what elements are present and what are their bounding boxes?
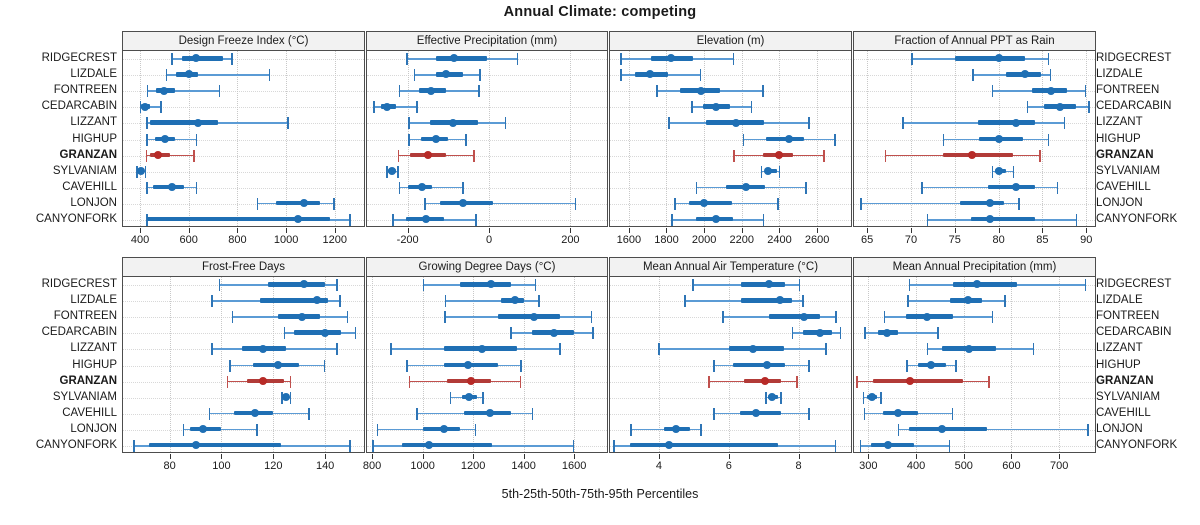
median-marker: [732, 119, 740, 127]
whisker-cap-p5: [211, 295, 213, 307]
whisker-cap-p5: [399, 182, 401, 194]
x-tick: [170, 454, 171, 459]
site-label-canyonfork: CANYONFORK: [1096, 212, 1177, 226]
median-marker: [424, 151, 432, 159]
panel-title: Elevation (m): [697, 35, 765, 47]
whisker-cap-p95: [475, 424, 477, 436]
whisker-cap-p95: [520, 376, 522, 388]
row-labels-right-bottom: RIDGECRESTLIZDALEFONTREENCEDARCABINLIZZA…: [1096, 276, 1200, 453]
interquartile-bar: [147, 217, 330, 222]
site-label-cedarcabin: CEDARCABIN: [42, 325, 117, 339]
plot-area: [854, 277, 1095, 452]
interval-canyonfork: [123, 213, 364, 226]
interval-ridgecrest: [367, 278, 607, 292]
whisker-cap-p95: [479, 69, 481, 81]
site-label-granzan: GRANZAN: [1096, 148, 1154, 162]
interquartile-bar: [689, 201, 732, 206]
site-label-sylvaniam: SYLVANIAM: [1096, 164, 1160, 178]
whisker-cap-p95: [808, 408, 810, 420]
x-tick-label: 400: [907, 460, 925, 472]
whisker-cap-p95: [196, 134, 198, 146]
whisker-cap-p5: [671, 214, 673, 226]
interval-granzan: [854, 149, 1095, 163]
whisker-cap-p95: [517, 53, 519, 65]
panel-title-strip: Design Freeze Index (°C): [123, 32, 364, 51]
whisker-cap-p5: [943, 134, 945, 146]
x-tick-label: 70: [905, 234, 917, 246]
x-axis-fraction-annual-ppt-as-rain: 657075808590: [854, 228, 1095, 252]
whisker-cap-p95: [520, 360, 522, 372]
site-label-cavehill: CAVEHILL: [1096, 406, 1151, 420]
whisker-cap-p95: [416, 101, 418, 113]
x-tick-label: 85: [1036, 234, 1048, 246]
whisker-cap-p5: [171, 53, 173, 65]
whisker-cap-p5: [743, 134, 745, 146]
whisker-cap-p95: [751, 101, 753, 113]
whisker-cap-p95: [535, 279, 537, 291]
whisker-cap-p5: [398, 150, 400, 162]
whisker-cap-p95: [700, 424, 702, 436]
median-marker: [646, 70, 654, 78]
site-label-cedarcabin: CEDARCABIN: [42, 99, 117, 113]
median-marker: [300, 280, 308, 288]
site-label-lizdale: LIZDALE: [70, 293, 117, 307]
x-tick: [1059, 454, 1060, 459]
interval-granzan: [367, 375, 607, 389]
site-label-highup: HIGHUP: [1096, 132, 1141, 146]
interval-lizdale: [123, 294, 364, 308]
interval-ridgecrest: [123, 278, 364, 292]
x-tick-label: 500: [955, 460, 973, 472]
interval-sylvaniam: [854, 165, 1095, 179]
whisker-cap-p5: [372, 440, 374, 452]
site-label-lonjon: LONJON: [1096, 196, 1143, 210]
interval-lonjon: [854, 197, 1095, 211]
whisker-cap-p5: [792, 327, 794, 339]
whisker-cap-p5: [620, 53, 622, 65]
panel-title: Fraction of Annual PPT as Rain: [894, 35, 1054, 47]
median-marker: [995, 54, 1003, 62]
site-label-cavehill: CAVEHILL: [62, 180, 117, 194]
x-axis-growing-degree-days: 8001000120014001600: [367, 454, 607, 478]
median-marker: [995, 167, 1003, 175]
whisker-cap-p95: [462, 182, 464, 194]
interval-canyonfork: [367, 213, 607, 226]
whisker-cap-p95: [779, 166, 781, 178]
x-tick: [524, 454, 525, 459]
whisker-cap-p95: [1085, 85, 1087, 97]
panel-title-strip: Mean Annual Precipitation (mm): [854, 258, 1095, 277]
interquartile-bar: [150, 120, 218, 125]
x-tick-label: 8: [796, 460, 802, 472]
x-tick: [489, 228, 490, 233]
median-marker: [449, 119, 457, 127]
whisker-cap-p95: [1064, 117, 1066, 129]
interval-lizzant: [367, 116, 607, 130]
x-tick-label: 700: [1050, 460, 1068, 472]
whisker-cap-p5: [406, 53, 408, 65]
site-label-granzan: GRANZAN: [60, 374, 118, 388]
percentile-legend-caption: 5th-25th-50th-75th-95th Percentiles: [0, 487, 1200, 501]
x-tick-label: 2000: [692, 234, 716, 246]
interval-lizdale: [367, 294, 607, 308]
whisker-cap-p95: [1057, 182, 1059, 194]
x-axis-frost-free-days: 80100120140: [123, 454, 364, 478]
median-marker: [464, 361, 472, 369]
interval-highup: [123, 133, 364, 147]
whisker-cap-p95: [840, 327, 842, 339]
median-marker: [422, 215, 430, 223]
panel-title-strip: Mean Annual Air Temperature (°C): [610, 258, 851, 277]
interval-cedarcabin: [854, 326, 1095, 340]
interval-lizdale: [854, 68, 1095, 82]
whisker-cap-p95: [573, 440, 575, 452]
median-marker: [388, 167, 396, 175]
median-marker: [938, 425, 946, 433]
interval-lizdale: [854, 294, 1095, 308]
x-tick: [742, 228, 743, 233]
whisker-cap-p95: [808, 117, 810, 129]
whisker-cap-p5: [183, 424, 185, 436]
x-tick: [286, 228, 287, 233]
x-tick-label: 2600: [805, 234, 829, 246]
interquartile-bar: [460, 282, 511, 287]
median-marker: [274, 361, 282, 369]
x-axis-elevation: 160018002000220024002600: [610, 228, 851, 252]
interquartile-bar: [955, 56, 1025, 61]
median-marker: [251, 409, 259, 417]
interval-fontreen: [854, 310, 1095, 324]
site-label-lizdale: LIZDALE: [1096, 293, 1143, 307]
site-label-fontreen: FONTREEN: [54, 309, 117, 323]
whisker-cap-p5: [692, 279, 694, 291]
interval-cedarcabin: [123, 326, 364, 340]
site-label-granzan: GRANZAN: [1096, 374, 1154, 388]
interval-ridgecrest: [367, 52, 607, 66]
plot-area: [367, 277, 607, 452]
median-marker: [192, 54, 200, 62]
median-marker: [1056, 103, 1064, 111]
whisker-cap-p5: [146, 117, 148, 129]
site-label-fontreen: FONTREEN: [1096, 309, 1159, 323]
site-label-lizzant: LIZZANT: [1096, 115, 1143, 129]
median-marker: [298, 313, 306, 321]
interquartile-bar: [873, 379, 963, 384]
whisker-cap-p95: [1039, 150, 1041, 162]
x-tick-label: 6: [726, 460, 732, 472]
site-label-cedarcabin: CEDARCABIN: [1096, 325, 1171, 339]
whisker-cap-p5: [510, 327, 512, 339]
x-tick-label: 800: [228, 234, 246, 246]
interval-sylvaniam: [610, 391, 851, 405]
whisker-cap-p5: [907, 295, 909, 307]
whisker-cap-p95: [478, 85, 480, 97]
x-tick-label: 600: [180, 234, 198, 246]
whisker-cap-p95: [349, 214, 351, 226]
whisker-cap-p95: [160, 101, 162, 113]
whisker-cap-p5: [856, 376, 858, 388]
whisker-cap-p5: [257, 198, 259, 210]
interval-fontreen: [610, 310, 851, 324]
whisker-cap-p5: [684, 295, 686, 307]
site-label-fontreen: FONTREEN: [54, 83, 117, 97]
whisker-cap-p5: [219, 279, 221, 291]
x-tick: [570, 228, 571, 233]
x-axis-mean-annual-precipitation: 300400500600700: [854, 454, 1095, 478]
median-marker: [427, 87, 435, 95]
whisker-cap-p5: [423, 279, 425, 291]
interval-cedarcabin: [123, 100, 364, 114]
x-tick: [221, 454, 222, 459]
x-tick: [1086, 228, 1087, 233]
median-marker: [986, 199, 994, 207]
whisker-cap-p5: [696, 182, 698, 194]
whisker-cap-p5: [992, 85, 994, 97]
median-marker: [761, 377, 769, 385]
interval-lonjon: [123, 423, 364, 437]
whisker-cap-p5: [921, 182, 923, 194]
interval-granzan: [854, 375, 1095, 389]
panel-title: Design Freeze Index (°C): [179, 35, 309, 47]
site-label-ridgecrest: RIDGECREST: [1096, 277, 1171, 291]
interval-canyonfork: [854, 213, 1095, 226]
whisker-cap-p5: [674, 198, 676, 210]
x-tick: [868, 454, 869, 459]
whisker-cap-p5: [898, 424, 900, 436]
interval-fontreen: [123, 84, 364, 98]
interquartile-bar: [733, 363, 785, 368]
whisker-cap-p5: [972, 69, 974, 81]
x-tick: [659, 454, 660, 459]
whisker-cap-p5: [630, 424, 632, 436]
whisker-cap-p95: [1087, 424, 1089, 436]
median-marker: [712, 215, 720, 223]
whisker-line: [864, 332, 938, 334]
panel-title: Growing Degree Days (°C): [419, 261, 556, 273]
whisker-cap-p5: [284, 327, 286, 339]
x-tick-label: -200: [397, 234, 419, 246]
interval-fontreen: [854, 84, 1095, 98]
whisker-cap-p5: [227, 376, 229, 388]
site-label-cavehill: CAVEHILL: [1096, 180, 1151, 194]
median-marker: [1012, 183, 1020, 191]
x-tick: [704, 228, 705, 233]
whisker-cap-p5: [146, 134, 148, 146]
whisker-cap-p5: [927, 343, 929, 355]
whisker-cap-p95: [808, 360, 810, 372]
whisker-cap-p5: [761, 166, 763, 178]
interval-cavehill: [610, 181, 851, 195]
whisker-cap-p95: [763, 214, 765, 226]
median-marker: [465, 393, 473, 401]
whisker-cap-p95: [559, 343, 561, 355]
x-tick-label: 2400: [767, 234, 791, 246]
interval-cavehill: [367, 407, 607, 421]
median-marker: [194, 119, 202, 127]
panel-design-freeze-index: Design Freeze Index (°C): [122, 31, 365, 227]
whisker-cap-p5: [691, 101, 693, 113]
whisker-cap-p95: [777, 198, 779, 210]
median-marker: [161, 135, 169, 143]
x-tick: [325, 454, 326, 459]
interval-sylvaniam: [610, 165, 851, 179]
median-marker: [765, 280, 773, 288]
median-marker: [154, 151, 162, 159]
page-title: Annual Climate: competing: [0, 4, 1200, 20]
whisker-cap-p95: [1085, 279, 1087, 291]
whisker-cap-p95: [1018, 198, 1020, 210]
interquartile-bar: [741, 282, 785, 287]
interval-lizdale: [123, 68, 364, 82]
site-label-fontreen: FONTREEN: [1096, 83, 1159, 97]
median-marker: [259, 377, 267, 385]
whisker-cap-p5: [445, 295, 447, 307]
x-tick: [916, 454, 917, 459]
site-label-lizzant: LIZZANT: [70, 115, 117, 129]
x-tick-label: 1200: [461, 460, 485, 472]
interval-cedarcabin: [367, 100, 607, 114]
median-marker: [995, 135, 1003, 143]
median-marker: [712, 103, 720, 111]
interval-lonjon: [610, 197, 851, 211]
whisker-cap-p95: [799, 279, 801, 291]
median-marker: [425, 441, 433, 449]
interval-highup: [367, 133, 607, 147]
panel-mean-annual-air-temperature: Mean Annual Air Temperature (°C): [609, 257, 852, 453]
median-marker: [1012, 119, 1020, 127]
interval-fontreen: [610, 84, 851, 98]
panel-mean-annual-precipitation: Mean Annual Precipitation (mm): [853, 257, 1096, 453]
whisker-cap-p95: [762, 85, 764, 97]
interval-fontreen: [367, 84, 607, 98]
x-tick-label: 65: [861, 234, 873, 246]
median-marker: [923, 313, 931, 321]
whisker-cap-p5: [406, 360, 408, 372]
interval-cedarcabin: [854, 100, 1095, 114]
interval-ridgecrest: [854, 52, 1095, 66]
interval-cavehill: [123, 407, 364, 421]
interval-ridgecrest: [854, 278, 1095, 292]
whisker-cap-p95: [796, 376, 798, 388]
median-marker: [665, 441, 673, 449]
whisker-cap-p5: [146, 182, 148, 194]
x-tick: [473, 454, 474, 459]
whisker-cap-p95: [823, 150, 825, 162]
x-tick-label: 80: [164, 460, 176, 472]
interval-cedarcabin: [367, 326, 607, 340]
whisker-cap-p95: [333, 198, 335, 210]
whisker-cap-p95: [780, 392, 782, 404]
site-label-lizdale: LIZDALE: [70, 67, 117, 81]
whisker-cap-p5: [864, 327, 866, 339]
whisker-cap-p5: [416, 408, 418, 420]
whisker-cap-p95: [336, 343, 338, 355]
interval-sylvaniam: [123, 165, 364, 179]
plot-area: [123, 277, 364, 452]
interval-highup: [367, 359, 607, 373]
median-marker: [883, 329, 891, 337]
whisker-cap-p5: [620, 69, 622, 81]
interquartile-bar: [740, 411, 781, 416]
x-tick: [372, 454, 373, 459]
whisker-cap-p5: [613, 440, 615, 452]
whisker-cap-p5: [765, 392, 767, 404]
whisker-cap-p5: [444, 311, 446, 323]
panel-fraction-annual-ppt-as-rain: Fraction of Annual PPT as Rain: [853, 31, 1096, 227]
whisker-cap-p5: [863, 392, 865, 404]
whisker-cap-p5: [232, 311, 234, 323]
median-marker: [700, 199, 708, 207]
whisker-cap-p5: [713, 408, 715, 420]
median-marker: [1021, 70, 1029, 78]
whisker-cap-p95: [336, 279, 338, 291]
interval-lonjon: [854, 423, 1095, 437]
whisker-cap-p5: [1027, 101, 1029, 113]
median-marker: [185, 70, 193, 78]
whisker-cap-p5: [424, 198, 426, 210]
whisker-cap-p5: [211, 343, 213, 355]
whisker-cap-p95: [219, 85, 221, 97]
whisker-cap-p95: [592, 327, 594, 339]
whisker-cap-p5: [708, 376, 710, 388]
x-tick: [408, 228, 409, 233]
x-tick-label: 90: [1080, 234, 1092, 246]
whisker-cap-p5: [146, 150, 148, 162]
whisker-cap-p5: [399, 85, 401, 97]
whisker-cap-p5: [450, 392, 452, 404]
interval-cavehill: [123, 181, 364, 195]
x-tick: [999, 228, 1000, 233]
interval-canyonfork: [610, 439, 851, 452]
whisker-cap-p5: [209, 408, 211, 420]
x-tick: [666, 228, 667, 233]
plot-area: [123, 51, 364, 226]
panel-frost-free-days: Frost-Free Days: [122, 257, 365, 453]
whisker-cap-p95: [1076, 214, 1078, 226]
whisker-cap-p95: [834, 134, 836, 146]
median-marker: [868, 393, 876, 401]
interval-canyonfork: [854, 439, 1095, 452]
median-marker: [383, 103, 391, 111]
interval-lizdale: [610, 294, 851, 308]
whisker-cap-p95: [465, 134, 467, 146]
x-tick-label: 400: [131, 234, 149, 246]
median-marker: [986, 215, 994, 223]
whisker-cap-p95: [591, 311, 593, 323]
median-marker: [1047, 87, 1055, 95]
median-marker: [667, 54, 675, 62]
interval-granzan: [610, 149, 851, 163]
x-axis-effective-precipitation: -2000200: [367, 228, 607, 252]
interval-granzan: [123, 149, 364, 163]
median-marker: [697, 87, 705, 95]
interval-highup: [123, 359, 364, 373]
whisker-cap-p5: [911, 53, 913, 65]
whisker-cap-p95: [339, 295, 341, 307]
whisker-cap-p5: [133, 440, 135, 452]
whisker-cap-p5: [229, 360, 231, 372]
row-labels-right: RIDGECRESTLIZDALEFONTREENCEDARCABINLIZZA…: [1096, 50, 1200, 227]
panel-growing-degree-days: Growing Degree Days (°C): [366, 257, 608, 453]
median-marker: [300, 199, 308, 207]
whisker-cap-p5: [656, 85, 658, 97]
interval-sylvaniam: [367, 391, 607, 405]
interval-highup: [854, 133, 1095, 147]
interquartile-bar: [953, 282, 1017, 287]
median-marker: [530, 313, 538, 321]
panel-title-strip: Frost-Free Days: [123, 258, 364, 277]
interval-lizzant: [123, 342, 364, 356]
